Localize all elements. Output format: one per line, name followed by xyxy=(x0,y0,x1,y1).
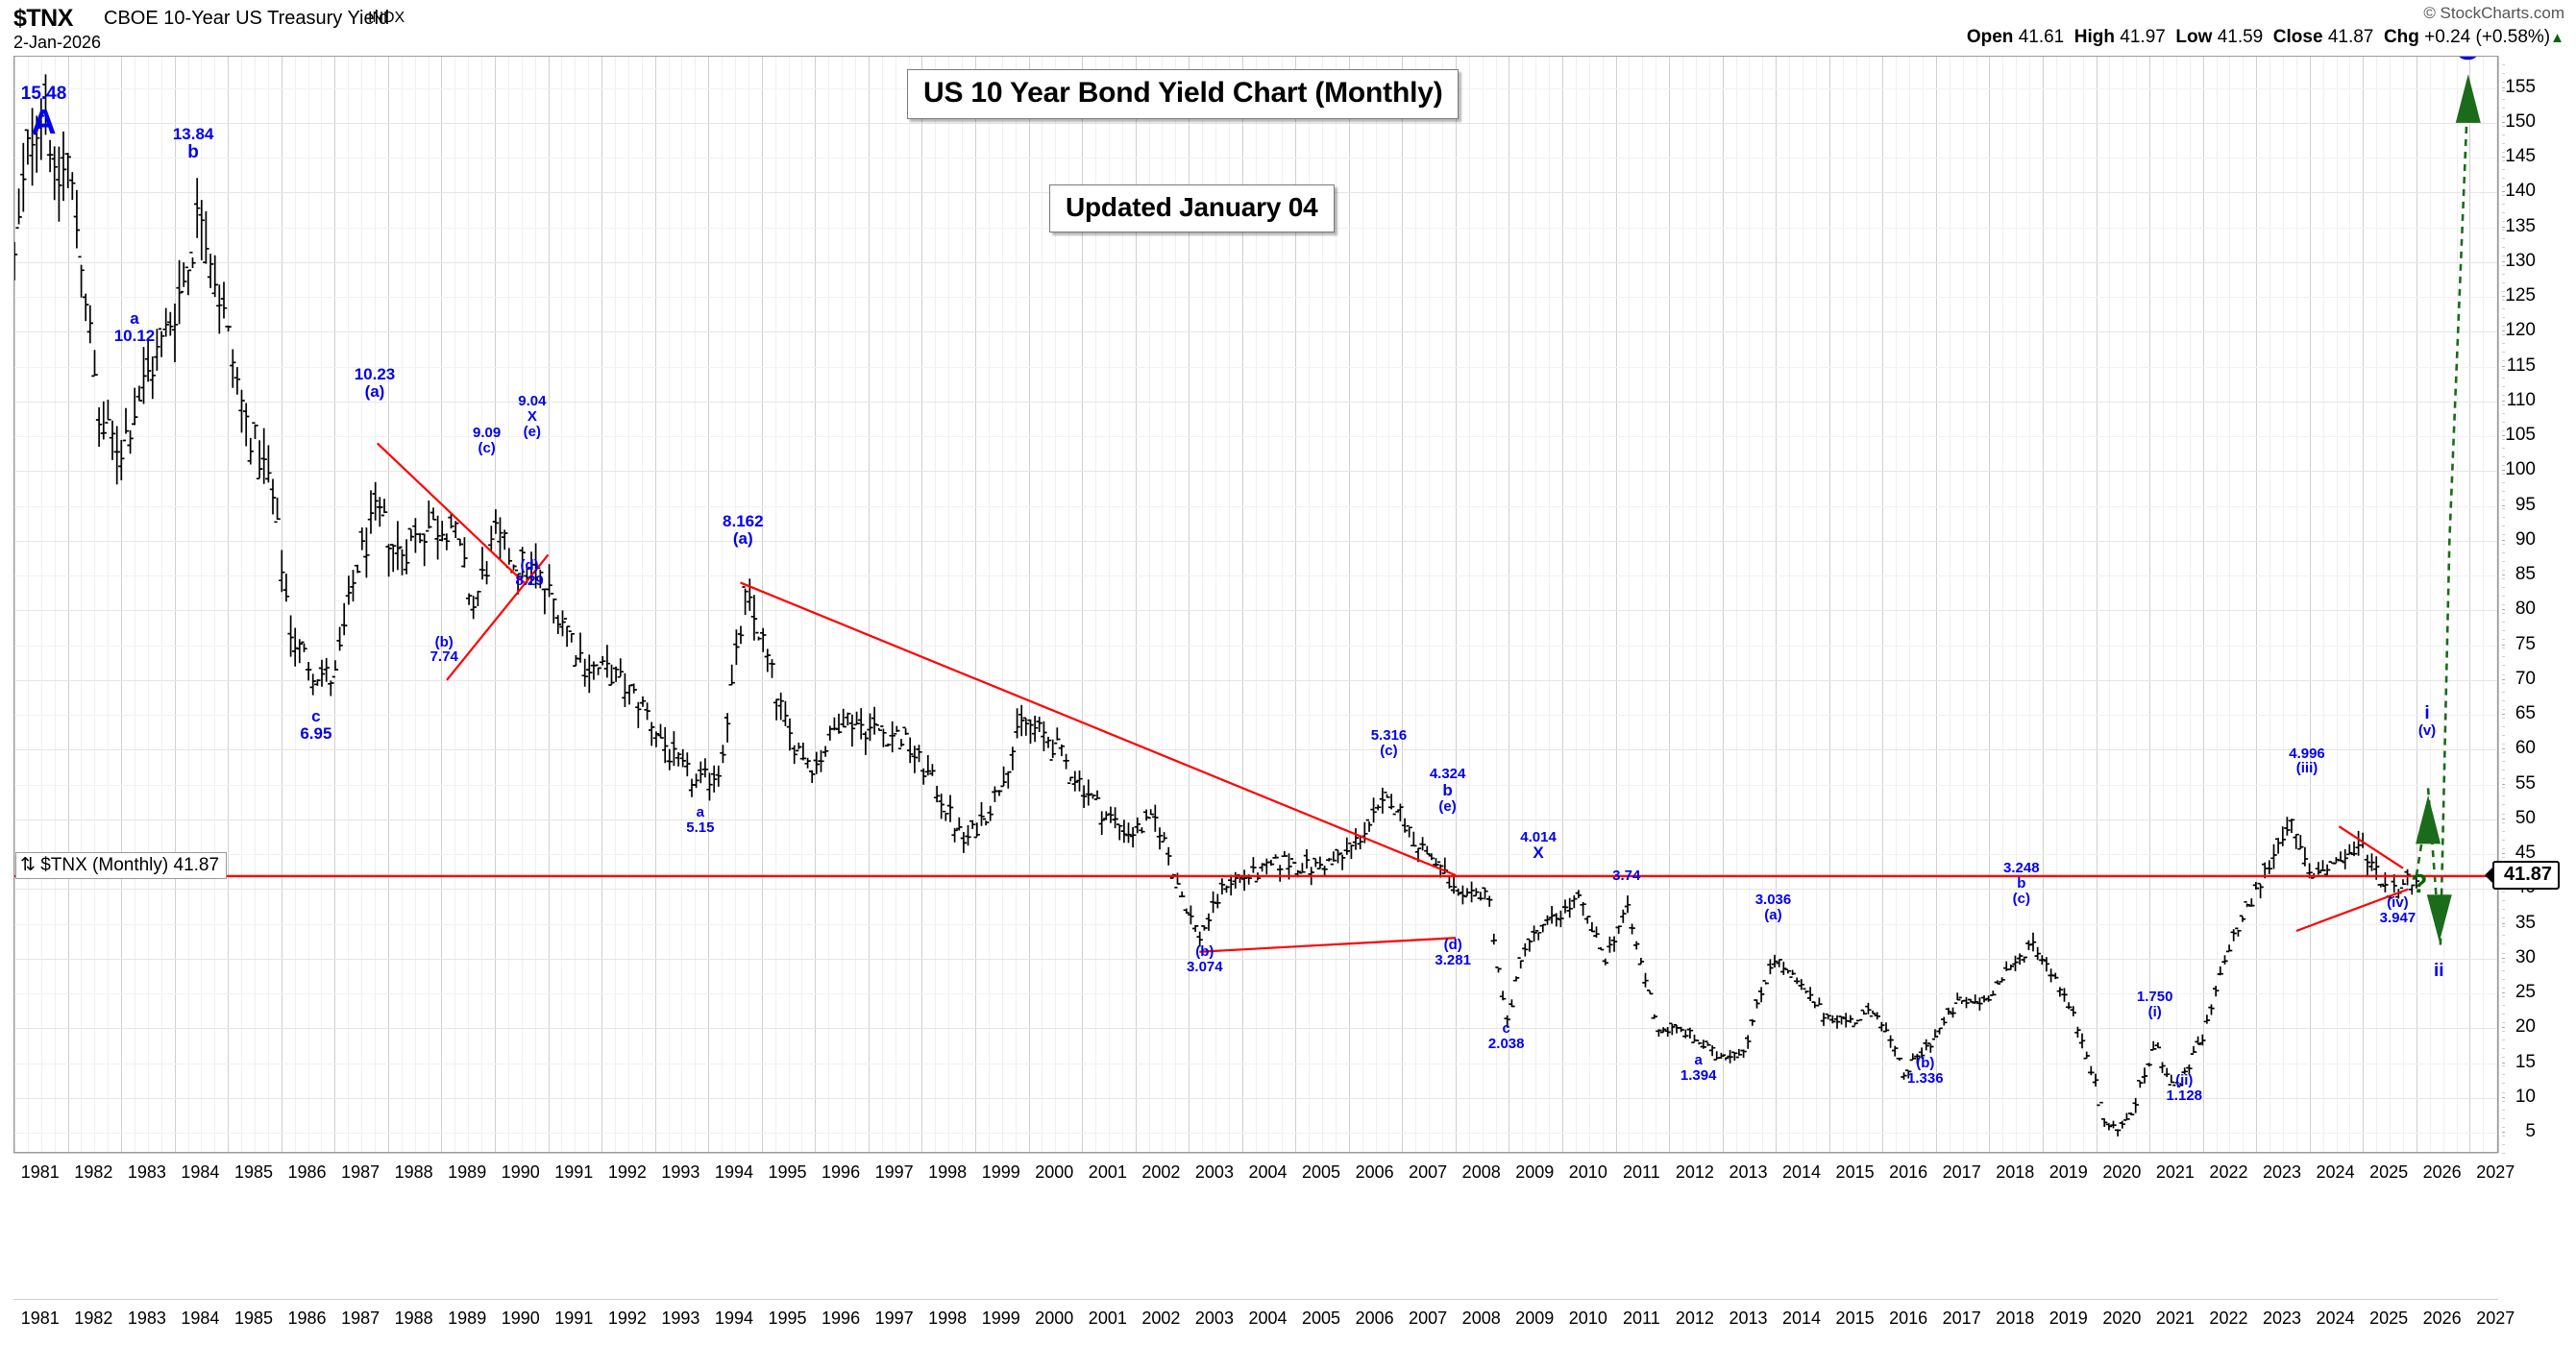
x-axis-label-bottom: 2006 xyxy=(1356,1308,1394,1329)
wave-label-line: (a) xyxy=(355,383,396,401)
x-axis-label-top: 2025 xyxy=(2369,1162,2408,1183)
wave-label-line: ii xyxy=(2434,962,2444,981)
x-axis-label-bottom: 2003 xyxy=(1195,1308,1234,1329)
wave-label-line: i xyxy=(2418,704,2436,723)
wave-label-b-3.074: (b)3.074 xyxy=(1187,944,1223,975)
x-axis-label-bottom: 1987 xyxy=(341,1308,380,1329)
x-axis-label-top: 1994 xyxy=(715,1162,753,1183)
y-axis-tick-mark xyxy=(2502,1097,2505,1098)
high-value: 41.97 xyxy=(2120,27,2166,47)
symbol-type-tag: INDX xyxy=(368,10,405,27)
x-axis-label-bottom: 2017 xyxy=(1943,1308,1981,1329)
y-axis-tick-mark xyxy=(2502,923,2505,924)
x-axis-label-top: 2017 xyxy=(1943,1162,1981,1183)
y-axis-tick-mark xyxy=(2502,401,2505,402)
x-axis-label-top: 2013 xyxy=(1729,1162,1767,1183)
x-axis-label-bottom: 2007 xyxy=(1409,1308,1447,1329)
wave-label-a-1.394: a1.394 xyxy=(1681,1053,1717,1084)
y-axis-tick-label: 140 xyxy=(2505,181,2536,202)
y-axis-minor-tick xyxy=(2502,726,2505,727)
wave-label-line: 3.74 xyxy=(1612,868,1640,884)
wave-label-line: 15.48 xyxy=(21,85,67,104)
y-axis-minor-tick xyxy=(2502,378,2505,379)
x-axis-label-bottom: 1996 xyxy=(822,1308,860,1329)
close-label: Close xyxy=(2273,27,2323,47)
y-axis-minor-tick xyxy=(2502,814,2505,815)
x-axis-label-bottom: 2027 xyxy=(2476,1308,2515,1329)
y-axis-minor-tick xyxy=(2502,892,2505,893)
x-axis-rule-top xyxy=(13,1153,2498,1154)
y-axis-minor-tick xyxy=(2502,291,2505,292)
low-label: Low xyxy=(2175,27,2212,47)
wave-label-line: (e) xyxy=(1430,799,1466,815)
x-axis-label-top: 1995 xyxy=(768,1162,806,1183)
y-axis-minor-tick xyxy=(2502,1110,2505,1111)
y-axis-minor-tick xyxy=(2502,822,2505,823)
y-axis-tick-mark xyxy=(2502,958,2505,959)
y-axis-tick-mark xyxy=(2502,748,2505,749)
y-axis-minor-tick xyxy=(2502,152,2505,153)
y-axis-tick-mark xyxy=(2502,645,2505,646)
high-label: High xyxy=(2074,27,2115,47)
wave-label-i-1.750: 1.750(i) xyxy=(2137,990,2173,1020)
x-axis-label-top: 1986 xyxy=(288,1162,327,1183)
wave-label-c-2.038: c2.038 xyxy=(1488,1021,1525,1052)
wave-label-line: 10.12 xyxy=(114,328,156,345)
x-axis-rule-bottom xyxy=(13,1299,2498,1300)
last-price-tag: 41.87 xyxy=(2492,861,2560,890)
wave-label-line: 2.038 xyxy=(1488,1037,1525,1052)
updated-note-text: Updated January 04 xyxy=(1066,192,1318,222)
y-axis-minor-tick xyxy=(2502,988,2505,989)
y-axis-minor-tick xyxy=(2502,848,2505,849)
y-axis-minor-tick xyxy=(2502,587,2505,588)
wave-label-d-8.29: (d)8.29 xyxy=(515,558,543,589)
y-axis-minor-tick xyxy=(2502,630,2505,631)
y-axis-tick-label: 105 xyxy=(2505,425,2536,446)
x-axis-label-bottom: 2009 xyxy=(1515,1308,1554,1329)
y-axis-minor-tick xyxy=(2502,613,2505,614)
x-axis-label-bottom: 1997 xyxy=(875,1308,914,1329)
x-axis-label-top: 2000 xyxy=(1035,1162,1073,1183)
y-axis-minor-tick xyxy=(2502,448,2505,449)
y-axis-tick-label: 15 xyxy=(2515,1052,2536,1073)
x-axis-label-top: 2004 xyxy=(1248,1162,1287,1183)
wave-label-line: c xyxy=(1488,1021,1525,1037)
y-axis-tick-label: 55 xyxy=(2515,773,2536,795)
y-axis-minor-tick xyxy=(2502,326,2505,327)
y-axis-minor-tick xyxy=(2502,770,2505,770)
x-axis-bottom[interactable]: 1981198219831984198519861987198819891990… xyxy=(0,1305,2576,1333)
y-axis-tick-mark xyxy=(2502,784,2505,785)
y-axis-minor-tick xyxy=(2502,578,2505,579)
wave-label-line: X xyxy=(518,409,546,425)
y-axis-minor-tick xyxy=(2502,534,2505,535)
x-axis-label-bottom: 2015 xyxy=(1836,1308,1875,1329)
chart-title-text: US 10 Year Bond Yield Chart (Monthly) xyxy=(923,77,1442,109)
y-axis-tick-mark xyxy=(2502,470,2505,471)
y-axis-tick-mark xyxy=(2502,87,2505,88)
y-axis-tick-label: 75 xyxy=(2515,634,2536,655)
y-axis-minor-tick xyxy=(2502,787,2505,788)
close-value: 41.87 xyxy=(2328,27,2374,47)
x-axis-label-top: 2009 xyxy=(1515,1162,1554,1183)
x-axis-label-bottom: 2020 xyxy=(2102,1308,2141,1329)
y-axis-minor-tick xyxy=(2502,126,2505,127)
x-axis-label-bottom: 2013 xyxy=(1729,1308,1767,1329)
y-axis-minor-tick xyxy=(2502,639,2505,640)
y-axis-minor-tick xyxy=(2502,413,2505,414)
y-axis-minor-tick xyxy=(2502,1136,2505,1137)
x-axis-label-bottom: 2024 xyxy=(2317,1308,2355,1329)
y-axis-minor-tick xyxy=(2502,265,2505,266)
y-axis-tick-mark xyxy=(2502,227,2505,228)
y-axis-tick-label: 90 xyxy=(2515,529,2536,550)
x-axis-label-top: 1989 xyxy=(448,1162,486,1183)
y-axis-minor-tick xyxy=(2502,1144,2505,1145)
wave-label-line: 6.95 xyxy=(300,725,331,743)
wave-label-v-projection: i(v) xyxy=(2418,704,2436,739)
y-axis-minor-tick xyxy=(2502,1048,2505,1049)
wave-label-line: (b) xyxy=(1187,944,1223,960)
wave-label-line: 5.316 xyxy=(1371,728,1408,744)
y-axis-minor-tick xyxy=(2502,308,2505,309)
y-axis-minor-tick xyxy=(2502,82,2505,83)
y-axis-minor-tick xyxy=(2502,996,2505,997)
wave-label-b-7.74: (b)7.74 xyxy=(430,635,458,666)
x-axis-label-bottom: 2008 xyxy=(1462,1308,1501,1329)
wave-label-line: (a) xyxy=(723,530,764,548)
wave-label-line: 3.947 xyxy=(2380,911,2417,926)
y-axis-minor-tick xyxy=(2502,508,2505,509)
y-axis-minor-tick xyxy=(2502,1022,2505,1023)
y-axis-tick-mark xyxy=(2502,679,2505,680)
x-axis-label-bottom: 2005 xyxy=(1302,1308,1340,1329)
y-axis-minor-tick xyxy=(2502,752,2505,753)
y-axis-minor-tick xyxy=(2502,1057,2505,1058)
stockcharts-watermark: © StockCharts.com xyxy=(2423,4,2564,23)
x-axis-label-top: 2020 xyxy=(2102,1162,2141,1183)
y-axis-minor-tick xyxy=(2502,778,2505,779)
x-axis-label-top: 2022 xyxy=(2209,1162,2247,1183)
y-axis-tick-label: 115 xyxy=(2507,355,2536,377)
y-axis-minor-tick xyxy=(2502,352,2505,353)
y-axis-minor-tick xyxy=(2502,169,2505,170)
y-axis-minor-tick xyxy=(2502,116,2505,117)
change-label: Chg xyxy=(2384,27,2419,47)
wave-label-c-9.09: 9.09(c) xyxy=(473,426,501,456)
wave-label-line: 8.162 xyxy=(723,513,764,530)
x-axis-label-bottom: 2000 xyxy=(1035,1308,1073,1329)
x-axis-label-top: 1987 xyxy=(341,1162,380,1183)
y-axis-minor-tick xyxy=(2502,900,2505,901)
x-axis-label-top: 2011 xyxy=(1623,1162,1660,1183)
y-axis-minor-tick xyxy=(2502,73,2505,74)
y-axis-minor-tick xyxy=(2502,1065,2505,1066)
x-axis-label-top: 2001 xyxy=(1089,1162,1127,1183)
x-axis-label-bottom: 1990 xyxy=(502,1308,540,1329)
y-axis-minor-tick xyxy=(2502,99,2505,100)
y-axis-minor-tick xyxy=(2502,544,2505,545)
y-axis-minor-tick xyxy=(2502,561,2505,562)
y-axis-tick-label: 85 xyxy=(2515,564,2536,585)
wave-label-line: 8.29 xyxy=(515,574,543,589)
ohlc-summary-bar: Open 41.61 High 41.97 Low 41.59 Close 41… xyxy=(1967,27,2564,48)
x-axis-label-bottom: 1992 xyxy=(608,1308,647,1329)
x-axis-label-bottom: 2022 xyxy=(2209,1308,2247,1329)
wave-label-a-5.15: a5.15 xyxy=(686,805,714,836)
x-axis-label-top: 2016 xyxy=(1889,1162,1927,1183)
x-axis-label-top: 2027 xyxy=(2476,1162,2515,1183)
y-axis-tick-label: 125 xyxy=(2505,285,2536,306)
y-axis-tick-mark xyxy=(2502,261,2505,262)
x-axis-label-top: 1981 xyxy=(21,1162,60,1183)
y-axis-minor-tick xyxy=(2502,683,2505,684)
wave-label-line: 3.074 xyxy=(1187,960,1223,975)
y-axis-tick-mark xyxy=(2502,435,2505,436)
y-axis-tick-mark xyxy=(2502,296,2505,297)
y-axis-minor-tick xyxy=(2502,64,2505,65)
y-axis-minor-tick xyxy=(2502,247,2505,248)
y-axis-tick-label: 60 xyxy=(2515,738,2536,759)
wave-label-line: (c) xyxy=(473,441,501,456)
y-axis-tick-label: 95 xyxy=(2515,495,2536,516)
y-axis-minor-tick xyxy=(2502,230,2505,231)
x-axis-label-top: 2021 xyxy=(2156,1162,2195,1183)
y-axis-minor-tick xyxy=(2502,962,2505,963)
wave-label-line: 3.248 xyxy=(2003,861,2040,876)
wave-label-line: 9.04 xyxy=(518,394,546,409)
wave-label-line: (v) xyxy=(2418,723,2436,739)
x-axis-label-bottom: 2002 xyxy=(1141,1308,1180,1329)
x-axis-label-top: 2005 xyxy=(1302,1162,1340,1183)
x-axis-label-top: 2019 xyxy=(2049,1162,2088,1183)
y-axis-tick-label: 65 xyxy=(2515,703,2536,724)
y-axis-minor-tick xyxy=(2502,970,2505,971)
y-axis-minor-tick xyxy=(2502,526,2505,526)
wave-label-line: 3.281 xyxy=(1435,953,1471,968)
y-axis-minor-tick xyxy=(2502,1005,2505,1006)
price-line-label: ⇅ $TNX (Monthly) 41.87 xyxy=(15,852,227,879)
wave-label-line: 9.09 xyxy=(473,426,501,441)
up-triangle-icon: ▲ xyxy=(2550,30,2564,46)
y-axis-minor-tick xyxy=(2502,317,2505,318)
chart-title-box: US 10 Year Bond Yield Chart (Monthly) xyxy=(907,69,1459,119)
y-axis-minor-tick xyxy=(2502,430,2505,431)
y-axis-minor-tick xyxy=(2502,274,2505,275)
x-axis-label-top: 2012 xyxy=(1676,1162,1714,1183)
y-axis-minor-tick xyxy=(2502,744,2505,745)
y-axis-minor-tick xyxy=(2502,917,2505,918)
y-axis-minor-tick xyxy=(2502,1039,2505,1040)
y-axis-minor-tick xyxy=(2502,840,2505,841)
y-axis-minor-tick xyxy=(2502,221,2505,222)
wave-label-a-10.12: a10.12 xyxy=(114,310,156,345)
x-axis-label-top: 2003 xyxy=(1195,1162,1234,1183)
y-axis-minor-tick xyxy=(2502,282,2505,283)
question-mark-annotation: ? xyxy=(2411,868,2427,899)
wave-label-ii-projection: ii xyxy=(2434,962,2444,981)
x-axis-label-top: 2007 xyxy=(1409,1162,1447,1183)
y-axis-tick-label: 150 xyxy=(2505,111,2536,133)
y-axis-tick-label: 130 xyxy=(2505,251,2536,272)
y-axis-minor-tick xyxy=(2502,238,2505,239)
y-axis-minor-tick xyxy=(2502,482,2505,483)
x-axis-label-top: 2010 xyxy=(1569,1162,1607,1183)
x-axis-label-bottom: 2011 xyxy=(1623,1308,1660,1329)
x-axis-label-bottom: 2018 xyxy=(1996,1308,2034,1329)
wave-label-line: a xyxy=(686,805,714,820)
wave-label-A: 15.48A xyxy=(21,85,67,140)
stockcharts-chart-page: $TNX CBOE 10-Year US Treasury Yield INDX… xyxy=(0,0,2576,1345)
y-axis-minor-tick xyxy=(2502,622,2505,623)
x-axis-label-top: 1997 xyxy=(875,1162,914,1183)
wave-label-line: (b) xyxy=(430,635,458,650)
y-axis-minor-tick xyxy=(2502,604,2505,605)
y-axis-line xyxy=(2498,56,2499,1153)
wave-label-line: 13.84 xyxy=(173,126,214,143)
wave-label-line: (iii) xyxy=(2289,761,2325,776)
y-axis-minor-tick xyxy=(2502,195,2505,196)
y-axis-tick-label: 80 xyxy=(2515,599,2536,620)
y-axis-minor-tick xyxy=(2502,1127,2505,1128)
y-axis-tick-mark xyxy=(2502,575,2505,575)
x-axis-top[interactable]: 1981198219831984198519861987198819891990… xyxy=(0,1159,2576,1187)
y-axis-minor-tick xyxy=(2502,422,2505,423)
open-label: Open xyxy=(1967,27,2014,47)
y-axis-minor-tick xyxy=(2502,1083,2505,1084)
open-value: 41.61 xyxy=(2019,27,2065,47)
y-axis-minor-tick xyxy=(2502,596,2505,597)
x-axis-label-top: 2015 xyxy=(1836,1162,1875,1183)
x-axis-label-bottom: 1983 xyxy=(128,1308,166,1329)
y-axis-tick-mark xyxy=(2502,853,2505,854)
wave-label-a-8.162: 8.162(a) xyxy=(723,513,764,548)
wave-label-line: (d) xyxy=(515,558,543,574)
wave-label-iv-3.947: (iv)3.947 xyxy=(2380,895,2417,926)
x-axis-label-top: 2023 xyxy=(2263,1162,2301,1183)
y-axis-minor-tick xyxy=(2502,718,2505,719)
wave-label-line: 10.23 xyxy=(355,366,396,383)
y-axis-minor-tick xyxy=(2502,761,2505,762)
x-axis-label-bottom: 1981 xyxy=(21,1308,60,1329)
wave-label-3.74: 3.74 xyxy=(1612,868,1640,884)
wave-label-iii-4.996: 4.996(iii) xyxy=(2289,746,2325,777)
y-axis-minor-tick xyxy=(2502,465,2505,466)
wave-label-line: a xyxy=(1681,1053,1717,1068)
wave-label-line: (a) xyxy=(1755,908,1792,923)
y-axis-minor-tick xyxy=(2502,1031,2505,1032)
y-axis-minor-tick xyxy=(2502,1118,2505,1119)
y-axis-minor-tick xyxy=(2502,404,2505,405)
x-axis-label-top: 2018 xyxy=(1996,1162,2034,1183)
x-axis-label-bottom: 2026 xyxy=(2423,1308,2462,1329)
y-axis-tick-mark xyxy=(2502,366,2505,367)
y-axis-minor-tick xyxy=(2502,386,2505,387)
y-axis-minor-tick xyxy=(2502,491,2505,492)
y-axis-minor-tick xyxy=(2502,90,2505,91)
x-axis-label-bottom: 2016 xyxy=(1889,1308,1927,1329)
y-axis-tick-label: 10 xyxy=(2515,1087,2536,1108)
y-axis-tick-label: 70 xyxy=(2515,669,2536,690)
wave-label-line: 1.128 xyxy=(2166,1088,2202,1104)
y-axis-tick-label: 100 xyxy=(2505,459,2536,480)
y-axis-tick-label: 120 xyxy=(2505,320,2536,341)
y-axis-minor-tick xyxy=(2502,909,2505,910)
y-axis-minor-tick xyxy=(2502,700,2505,701)
wave-label-ii-1.128: (ii)1.128 xyxy=(2166,1073,2202,1104)
x-axis-label-bottom: 1984 xyxy=(181,1308,219,1329)
y-axis-tick-label: 25 xyxy=(2515,982,2536,1003)
y-axis-minor-tick xyxy=(2502,692,2505,693)
symbol-ticker: $TNX xyxy=(13,5,73,33)
x-axis-label-top: 1998 xyxy=(928,1162,967,1183)
y-axis-minor-tick xyxy=(2502,795,2505,796)
wave-label-line: b xyxy=(173,143,214,162)
y-axis[interactable]: 1551501451401351301251201151101051009590… xyxy=(2498,56,2576,1153)
x-axis-label-bottom: 2014 xyxy=(1782,1308,1821,1329)
x-axis-label-bottom: 1993 xyxy=(661,1308,699,1329)
wave-label-c-6.95: c6.95 xyxy=(300,708,331,743)
y-axis-tick-mark xyxy=(2502,540,2505,541)
wave-label-line: 1.336 xyxy=(1907,1071,1944,1087)
x-axis-label-top: 1988 xyxy=(395,1162,433,1183)
wave-label-c-5.316: 5.316(c) xyxy=(1371,728,1408,759)
y-axis-minor-tick xyxy=(2502,935,2505,936)
y-axis-minor-tick xyxy=(2502,979,2505,980)
x-axis-label-bottom: 1994 xyxy=(715,1308,753,1329)
y-axis-tick-label: 50 xyxy=(2515,808,2536,829)
y-axis-minor-tick xyxy=(2502,300,2505,301)
wave-label-line: C xyxy=(2455,56,2480,66)
wave-label-line: (e) xyxy=(518,425,546,440)
wave-label-line: A xyxy=(21,104,67,140)
y-axis-minor-tick xyxy=(2502,1153,2505,1154)
wave-label-a-10.23: 10.23(a) xyxy=(355,366,396,401)
y-axis-tick-label: 145 xyxy=(2505,146,2536,167)
wave-label-c-3.248: 3.248b(c) xyxy=(2003,861,2040,907)
wave-label-line: 4.014 xyxy=(1520,830,1557,845)
y-axis-tick-label: 5 xyxy=(2525,1121,2536,1142)
x-axis-label-bottom: 1988 xyxy=(395,1308,433,1329)
x-axis-label-top: 1996 xyxy=(822,1162,860,1183)
wave-label-line: (c) xyxy=(2003,892,2040,907)
x-axis-label-top: 2014 xyxy=(1782,1162,1821,1183)
wave-label-line: b xyxy=(2003,876,2040,892)
x-axis-label-top: 2026 xyxy=(2423,1162,2462,1183)
x-axis-label-bottom: 1986 xyxy=(288,1308,327,1329)
y-axis-minor-tick xyxy=(2502,178,2505,179)
x-axis-label-top: 1990 xyxy=(502,1162,540,1183)
x-axis-label-top: 2006 xyxy=(1356,1162,1394,1183)
y-axis-tick-mark xyxy=(2502,1027,2505,1028)
y-axis-tick-mark xyxy=(2502,714,2505,715)
y-axis-tick-mark xyxy=(2502,157,2505,158)
y-axis-minor-tick xyxy=(2502,648,2505,648)
x-axis-label-bottom: 2004 xyxy=(1248,1308,1287,1329)
x-axis-label-bottom: 2010 xyxy=(1569,1308,1607,1329)
wave-label-b-1.336: (b)1.336 xyxy=(1907,1056,1944,1087)
y-axis-minor-tick xyxy=(2502,656,2505,657)
x-axis-label-top: 1993 xyxy=(661,1162,699,1183)
x-axis-label-top: 2002 xyxy=(1141,1162,1180,1183)
y-axis-tick-label: 20 xyxy=(2515,1016,2536,1038)
wave-label-e-9.04: 9.04X(e) xyxy=(518,394,546,440)
x-axis-label-top: 2024 xyxy=(2317,1162,2355,1183)
x-axis-label-bottom: 1998 xyxy=(928,1308,967,1329)
y-axis-tick-mark xyxy=(2502,191,2505,192)
y-axis-minor-tick xyxy=(2502,212,2505,213)
